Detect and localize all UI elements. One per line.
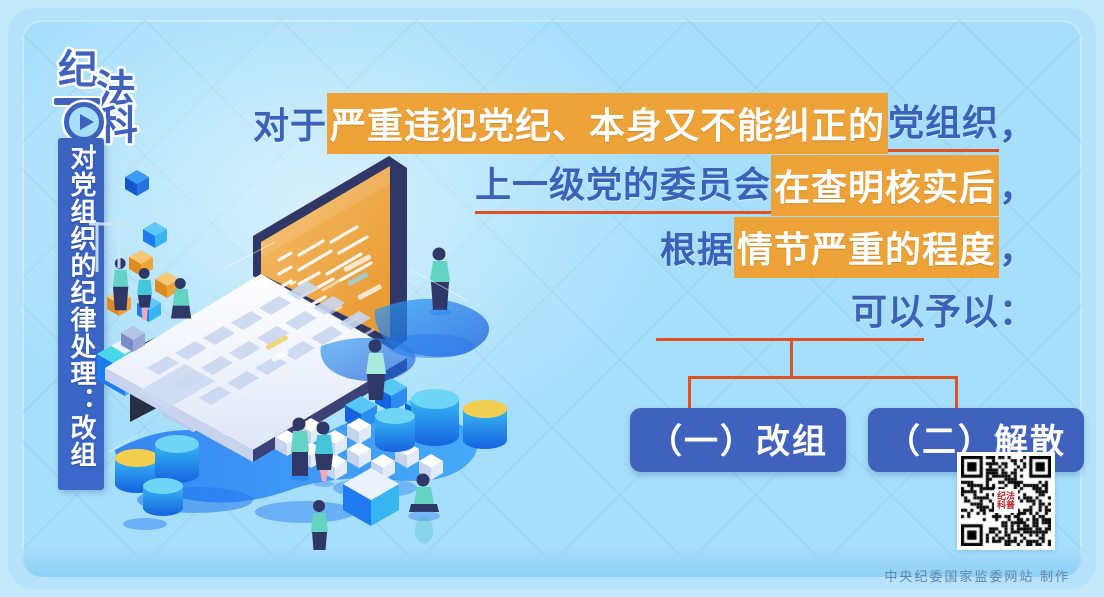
brand-logo: 纪 法 科: [52, 48, 152, 148]
headline-segment-plain: ，: [999, 97, 1036, 149]
headline-line: 对于严重违犯党纪、本身又不能纠正的党组织，: [300, 92, 1060, 154]
headline-segment-plain: ，: [999, 159, 1036, 211]
poster-root: 纪 法 科 对党组织的纪律处理：改组: [0, 0, 1104, 597]
headline-line: 上一级党的委员会在查明核实后，: [300, 154, 1060, 216]
headline-segment-plain: ，: [999, 221, 1036, 273]
logo-char-ji: 纪: [58, 50, 98, 90]
headline-segment-highlight: 在查明核实后: [771, 155, 999, 216]
headline-segment-highlight: 情节严重的程度: [734, 217, 999, 278]
connector-branch-bar: [688, 376, 958, 379]
option-pill-suffix: 。: [1068, 423, 1102, 472]
headline-line: 根据情节严重的程度，: [300, 216, 1060, 278]
qr-code[interactable]: 纪法科普: [957, 452, 1055, 550]
option-pill-label[interactable]: （一）改组: [630, 408, 846, 472]
headline-segment-plain: 根据: [660, 221, 734, 273]
qr-center-logo: 纪法科普: [994, 489, 1018, 513]
connector-stem: [790, 338, 793, 378]
connector-tree: [640, 338, 1000, 416]
headline-line: 可以予以：: [300, 278, 1060, 340]
footer-credit: 中央纪委国家监委网站 制作: [884, 566, 1070, 585]
option-1[interactable]: （一）改组: [630, 408, 846, 472]
headline-segment-underline: 党组织: [888, 94, 999, 152]
headline-block: 对于严重违犯党纪、本身又不能纠正的党组织， 上一级党的委员会在查明核实后， 根据…: [300, 92, 1060, 340]
qr-matrix: 纪法科普: [961, 456, 1051, 546]
headline-segment-highlight: 严重违犯党纪、本身又不能纠正的: [327, 93, 888, 154]
headline-segment-plain: 对于: [253, 97, 327, 149]
logo-char-ke: 科: [98, 106, 138, 146]
play-triangle-icon: [80, 114, 94, 130]
headline-segment-plain: 可以予以：: [851, 283, 1036, 335]
headline-segment-underline: 上一级党的委员会: [475, 156, 771, 214]
